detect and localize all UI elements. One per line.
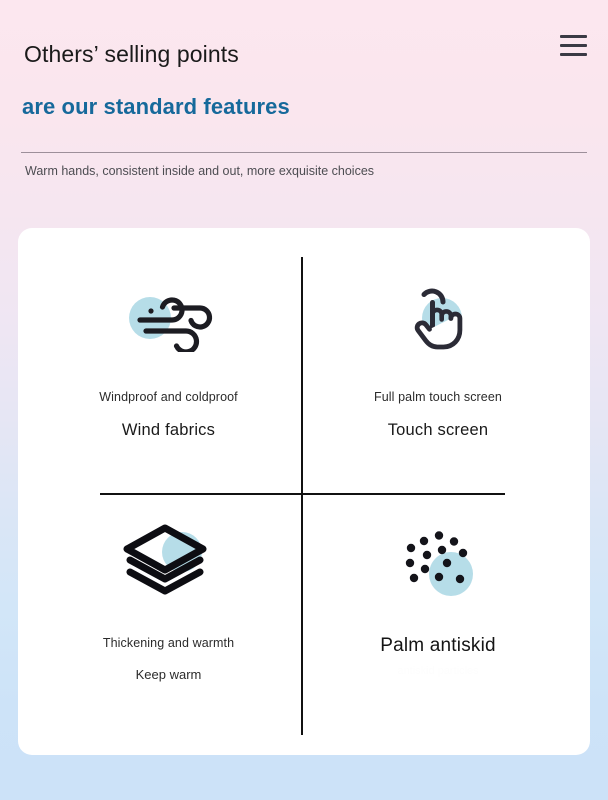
feature-cell-wind-fabrics[interactable]: Windproof and coldproof Wind fabrics — [36, 268, 301, 440]
feature-panel: Windproof and coldproof Wind fabrics Ful… — [18, 228, 590, 755]
page-tagline: Warm hands, consistent inside and out, m… — [25, 164, 374, 178]
hamburger-menu-icon[interactable] — [560, 35, 587, 56]
feature-cell-palm-antiskid[interactable]: Palm antiskid antiskid particles — [303, 513, 573, 677]
feature-title: Keep warm — [136, 667, 202, 682]
feature-title: Touch screen — [388, 421, 489, 440]
page-subtitle: are our standard features — [22, 94, 290, 120]
feature-title: Wind fabrics — [122, 421, 215, 440]
hamburger-bar-top — [560, 35, 587, 38]
feature-caption: Windproof and coldproof — [99, 390, 238, 404]
feature-cell-keep-warm[interactable]: Thickening and warmth Keep warm — [36, 513, 301, 682]
wind-icon — [116, 268, 222, 364]
feature-caption: Thickening and warmth — [103, 636, 234, 650]
feature-caption: Full palm touch screen — [374, 390, 502, 404]
hamburger-bar-middle — [560, 44, 587, 47]
panel-divider-horizontal — [100, 493, 505, 495]
feature-ghost-caption: antiskid particles — [397, 665, 478, 677]
page-title: Others’ selling points — [24, 41, 239, 68]
feature-title: Palm antiskid — [380, 635, 496, 657]
feature-cell-touch-screen[interactable]: Full palm touch screen Touch screen — [303, 268, 573, 440]
hand-tap-icon — [402, 268, 474, 364]
page-header: Others’ selling points are our standard … — [0, 0, 608, 200]
dots-grip-icon — [392, 513, 484, 609]
layers-icon — [121, 513, 217, 609]
header-divider — [21, 152, 587, 153]
hamburger-bar-bottom — [560, 53, 587, 56]
